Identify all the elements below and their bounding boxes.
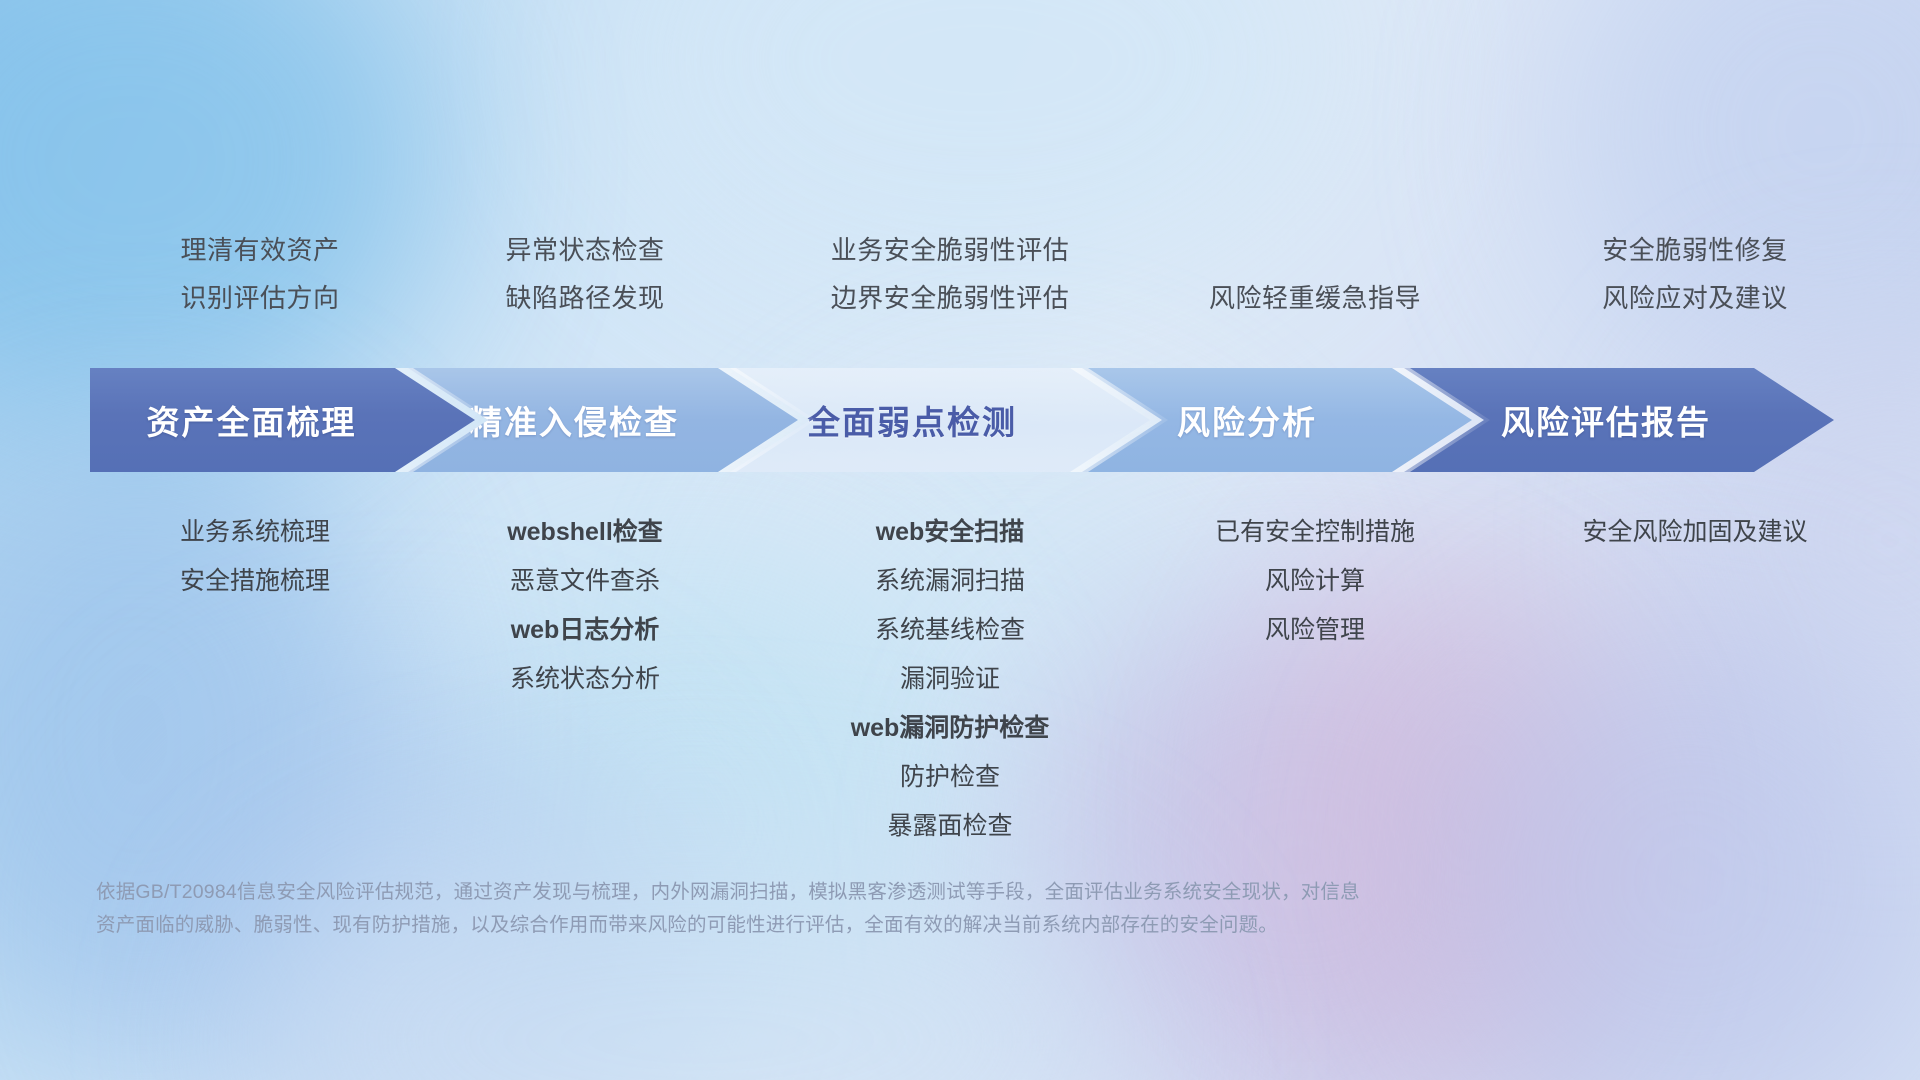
top-note: 安全脆弱性修复	[1505, 226, 1885, 274]
process-chevron-band: 资产全面梳理 精准入侵检查 全面弱点检测 风险分析 风险评估报告	[0, 368, 1920, 472]
list-item: 系统漏洞扫描	[740, 557, 1160, 606]
top-note: 理清有效资产	[60, 226, 460, 274]
top-note: 风险轻重缓急指导	[1115, 274, 1515, 322]
list-item: 安全措施梳理	[60, 557, 450, 606]
list-item: 漏洞验证	[740, 655, 1160, 704]
list-item: web漏洞防护检查	[740, 704, 1160, 753]
list-item: 系统基线检查	[740, 606, 1160, 655]
top-notes-weakness-detection: 业务安全脆弱性评估 边界安全脆弱性评估	[740, 226, 1160, 322]
stage-title: 精准入侵检查	[469, 396, 679, 444]
top-notes-intrusion-check: 异常状态检查 缺陷路径发现	[405, 226, 765, 322]
stage-title: 风险分析	[1177, 396, 1317, 444]
list-item: web日志分析	[400, 606, 770, 655]
list-item: 系统状态分析	[400, 655, 770, 704]
stage-title: 风险评估报告	[1501, 396, 1711, 444]
bottom-items-risk-analysis: 已有安全控制措施 风险计算 风险管理	[1115, 508, 1515, 655]
footer-line: 依据GB/T20984信息安全风险评估规范，通过资产发现与梳理，内外网漏洞扫描，…	[96, 876, 1656, 909]
top-note: 风险应对及建议	[1505, 274, 1885, 322]
bottom-items-asset-inventory: 业务系统梳理 安全措施梳理	[60, 508, 450, 606]
stage-title: 全面弱点检测	[807, 396, 1017, 444]
list-item: 业务系统梳理	[60, 508, 450, 557]
top-note: 异常状态检查	[405, 226, 765, 274]
top-notes-risk-analysis: 风险轻重缓急指导	[1115, 274, 1515, 322]
list-item: 恶意文件查杀	[400, 557, 770, 606]
top-notes-asset-inventory: 理清有效资产 识别评估方向	[60, 226, 460, 322]
list-item: 防护检查	[740, 753, 1160, 802]
top-note: 边界安全脆弱性评估	[740, 274, 1160, 322]
list-item: 安全风险加固及建议	[1490, 508, 1900, 557]
footer-line: 资产面临的威胁、脆弱性、现有防护措施，以及综合作用而带来风险的可能性进行评估，全…	[96, 909, 1656, 942]
top-notes-row: 理清有效资产 识别评估方向 异常状态检查 缺陷路径发现 业务安全脆弱性评估 边界…	[0, 226, 1920, 336]
list-item: 风险管理	[1115, 606, 1515, 655]
bottom-items-intrusion-check: webshell检查 恶意文件查杀 web日志分析 系统状态分析	[400, 508, 770, 704]
bottom-items-risk-report: 安全风险加固及建议	[1490, 508, 1900, 557]
stage-chevron-asset-inventory[interactable]: 资产全面梳理	[90, 368, 475, 472]
top-note: 缺陷路径发现	[405, 274, 765, 322]
list-item: webshell检查	[400, 508, 770, 557]
footer-description: 依据GB/T20984信息安全风险评估规范，通过资产发现与梳理，内外网漏洞扫描，…	[96, 876, 1656, 942]
top-note: 业务安全脆弱性评估	[740, 226, 1160, 274]
list-item: 暴露面检查	[740, 802, 1160, 851]
list-item: 风险计算	[1115, 557, 1515, 606]
top-notes-risk-report: 安全脆弱性修复 风险应对及建议	[1505, 226, 1885, 322]
top-note: 识别评估方向	[60, 274, 460, 322]
list-item: 已有安全控制措施	[1115, 508, 1515, 557]
list-item: web安全扫描	[740, 508, 1160, 557]
stage-title: 资产全面梳理	[147, 396, 357, 444]
bottom-items-weakness-detection: web安全扫描 系统漏洞扫描 系统基线检查 漏洞验证 web漏洞防护检查 防护检…	[740, 508, 1160, 851]
